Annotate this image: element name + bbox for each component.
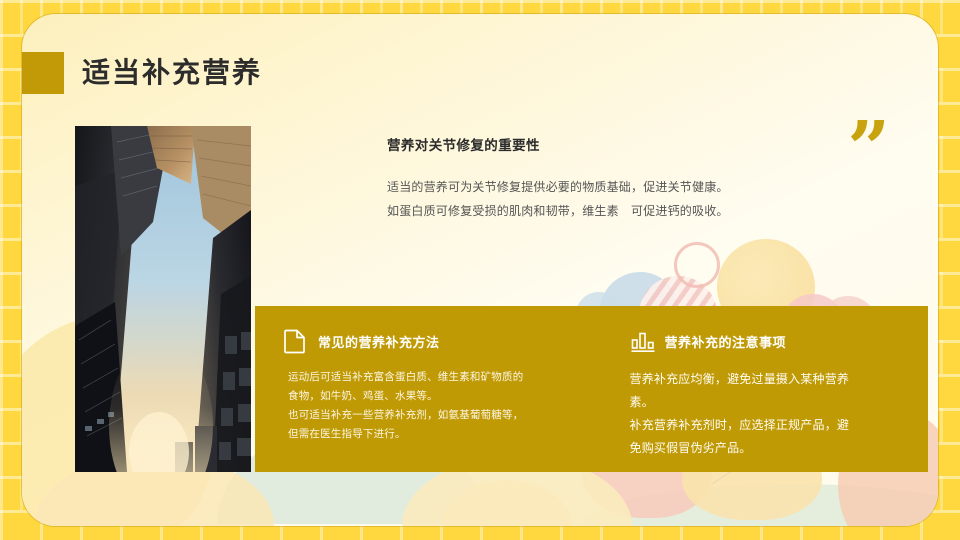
title-accent-block	[22, 52, 64, 94]
bar-chart-icon	[630, 328, 654, 354]
intro-line-2: 如蛋白质可修复受损的肌肉和韧带，维生素 可促进钙的吸收。	[387, 199, 892, 223]
card-header-cautions: 营养补充的注意事项	[630, 328, 911, 354]
highlight-card: 常见的营养补充方法 运动后可适当补充富含蛋白质、维生素和矿物质的 食物，如牛奶、…	[255, 306, 928, 472]
intro-line-1: 适当的营养可为关节修复提供必要的物质基础，促进关节健康。	[387, 175, 892, 199]
card-line: 食物，如牛奶、鸡蛋、水果等。	[288, 387, 564, 406]
card-title-cautions: 营养补充的注意事项	[665, 332, 787, 351]
card-body-methods: 运动后可适当补充富含蛋白质、维生素和矿物质的 食物，如牛奶、鸡蛋、水果等。 也可…	[283, 368, 564, 444]
intro-text-block: 营养对关节修复的重要性 适当的营养可为关节修复提供必要的物质基础，促进关节健康。…	[387, 134, 892, 223]
quote-mark-icon: ”	[847, 122, 890, 176]
card-body-cautions: 营养补充应均衡，避免过量摄入某种营养 素。 补充营养补充剂时，应选择正规产品，避…	[630, 368, 911, 460]
card-line: 但需在医生指导下进行。	[288, 425, 564, 444]
card-line: 素。	[630, 391, 911, 414]
card-line: 免购买假冒伪劣产品。	[630, 437, 911, 460]
page-title: 适当补充营养	[82, 52, 262, 94]
decorative-hill-cream-small	[442, 480, 572, 526]
skyscraper-photo	[75, 126, 251, 472]
decorative-hill-green-right	[582, 484, 938, 526]
card-line: 也可适当补充一些营养补充剂，如氨基葡萄糖等，	[288, 406, 564, 425]
decorative-balloon-outline	[674, 242, 720, 288]
card-line: 营养补充应均衡，避免过量摄入某种营养	[630, 368, 911, 391]
intro-heading: 营养对关节修复的重要性	[387, 134, 892, 154]
card-line: 运动后可适当补充富含蛋白质、维生素和矿物质的	[288, 368, 564, 387]
card-line: 补充营养补充剂时，应选择正规产品，避	[630, 414, 911, 437]
content-panel: 适当补充营养	[22, 14, 938, 526]
card-column-methods: 常见的营养补充方法 运动后可适当补充富含蛋白质、维生素和矿物质的 食物，如牛奶、…	[255, 306, 590, 472]
card-title-methods: 常见的营养补充方法	[318, 332, 440, 351]
slide-root: 适当补充营养	[0, 0, 960, 540]
card-column-cautions: 营养补充的注意事项 营养补充应均衡，避免过量摄入某种营养 素。 补充营养补充剂时…	[590, 306, 929, 472]
document-icon	[283, 328, 307, 354]
card-header-methods: 常见的营养补充方法	[283, 328, 564, 354]
